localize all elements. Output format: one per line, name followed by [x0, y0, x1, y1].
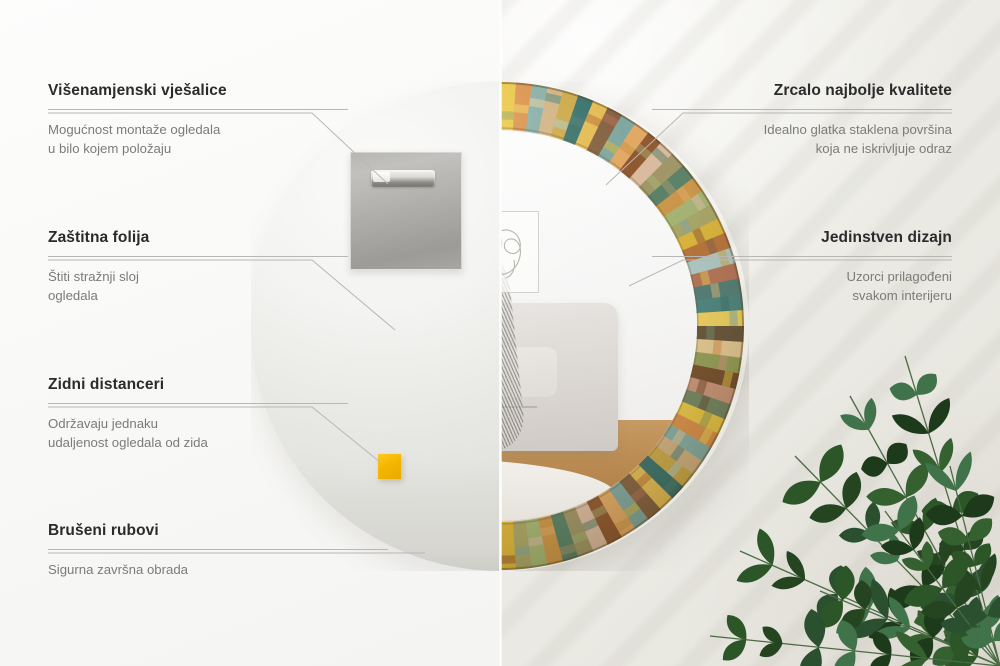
callout-description: Uzorci prilagođeni svakom interijeru — [652, 268, 952, 305]
foliage-decoration — [700, 336, 1000, 666]
hanger-slot — [371, 170, 435, 186]
callout-rule — [652, 256, 952, 257]
leaf — [888, 380, 919, 404]
infographic-canvas: Višenamjenski vješalice Mogućnost montaž… — [0, 0, 1000, 666]
callout-title: Jedinstven dizajn — [652, 229, 952, 247]
callout-description: Održavaju jednaku udaljenost ogledala od… — [48, 415, 348, 452]
callout-hanger: Višenamjenski vješalice Mogućnost montaž… — [48, 82, 348, 158]
leaf — [778, 473, 826, 511]
callout-rule — [48, 109, 348, 110]
hanger-slot-hole — [373, 172, 390, 182]
leaf — [951, 449, 977, 493]
callout-description: Idealno glatka staklena površina koja ne… — [652, 121, 952, 158]
callout-rule — [48, 403, 348, 404]
callout-title: Zrcalo najbolje kvalitete — [652, 82, 952, 100]
hanger-plate — [350, 152, 462, 270]
callout-protective-foil: Zaštitna folija Štiti stražnji sloj ogle… — [48, 229, 348, 305]
leaf — [859, 453, 890, 479]
callout-wall-spacers: Zidni distanceri Održavaju jednaku udalj… — [48, 376, 348, 452]
leaf — [734, 559, 776, 588]
wall-spacer — [378, 454, 401, 479]
leaf — [812, 440, 851, 488]
callout-title: Zaštitna folija — [48, 229, 348, 247]
callout-rule — [48, 549, 388, 550]
callout-rule — [652, 109, 952, 110]
callout-description: Sigurna završna obrada — [48, 561, 388, 580]
callout-title: Višenamjenski vješalice — [48, 82, 348, 100]
callout-description: Mogućnost montaže ogledala u bilo kojem … — [48, 121, 348, 158]
callout-description: Štiti stražnji sloj ogledala — [48, 268, 348, 305]
leaf — [753, 526, 780, 568]
callout-title: Brušeni rubovi — [48, 522, 388, 540]
callout-rule — [48, 256, 348, 257]
callout-polished-edges: Brušeni rubovi Sigurna završna obrada — [48, 522, 388, 580]
callout-title: Zidni distanceri — [48, 376, 348, 394]
callout-unique-design: Jedinstven dizajn Uzorci prilagođeni sva… — [652, 229, 952, 305]
callout-mirror-quality: Zrcalo najbolje kvalitete Idealno glatka… — [652, 82, 952, 158]
